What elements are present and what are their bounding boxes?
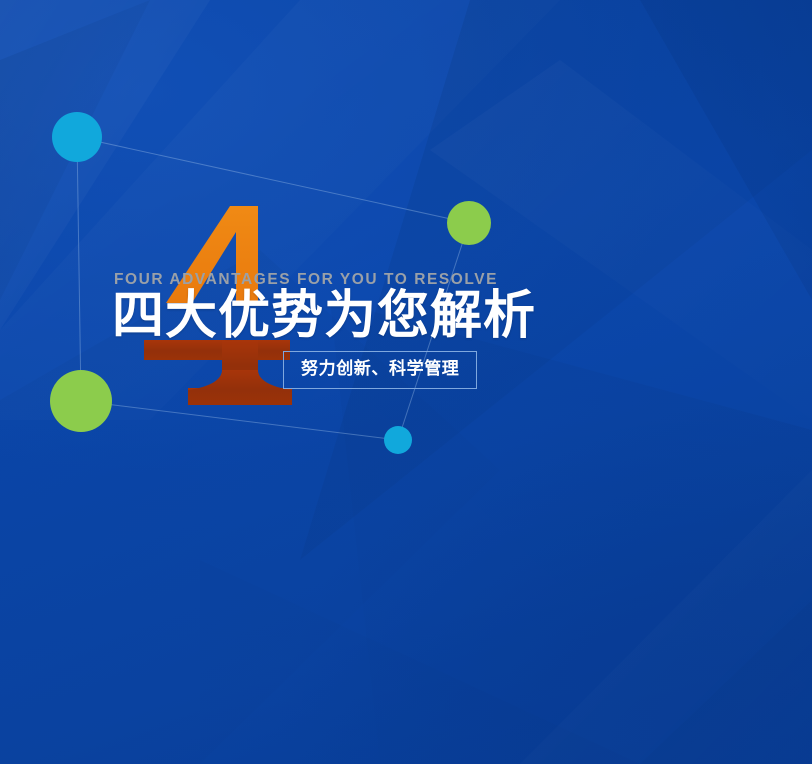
promo-banner: FOUR ADVANTAGES FOR YOU TO RESOLVE 四大优势为… (0, 0, 812, 764)
link-topleft-to-bottomleft (77, 137, 81, 401)
node-network (0, 0, 812, 764)
link-topright-to-bottom (398, 223, 469, 440)
link-bottomleft-to-bottom (81, 401, 398, 440)
node-cyan-top-left (52, 112, 102, 162)
node-green-top-right (447, 201, 491, 245)
node-green-bottom-left (50, 370, 112, 432)
link-topleft-to-topright (77, 137, 469, 223)
node-cyan-bottom (384, 426, 412, 454)
